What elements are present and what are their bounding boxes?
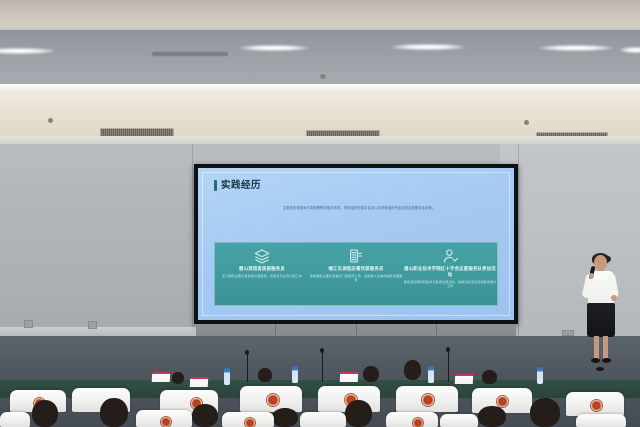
experience-heading: 眉山职业技术学院红十字会志愿服务队参加活动 — [403, 266, 497, 278]
audience-head — [530, 398, 560, 427]
presenter-left-hand — [589, 273, 594, 279]
microphone-head — [320, 348, 324, 353]
chair-emblem — [421, 393, 435, 407]
title-accent-bar — [214, 180, 217, 191]
microphone-stand — [247, 352, 248, 382]
presenter-shoe-shadow — [596, 367, 604, 371]
ceiling-speaker-dome — [320, 74, 326, 79]
experience-item-2: 岷江东湖饭店餐饮部服务员 寒假兼职主要负责餐饮门迎接待工作，完成客人点单并提供合… — [309, 243, 403, 283]
experience-body: 服务活动期间积极参与各项志愿活动，协助完成活动现场秩序维护工作 — [403, 280, 497, 289]
water-bottle — [224, 368, 230, 385]
chair-emblem — [266, 393, 280, 407]
name-card — [190, 377, 209, 387]
chair-emblem — [590, 399, 603, 412]
water-bottle — [292, 366, 298, 383]
presenter-right-leg — [603, 336, 608, 360]
microphone-stand — [322, 350, 323, 382]
wall-seam-right — [518, 144, 519, 344]
audience-head — [404, 360, 421, 380]
presentation-slide: 实践经历 主要是在校期间与寒假兼职的相关事项，学校组织的集中实训以及学校组织所参… — [198, 168, 514, 320]
experience-heading: 眉山宾馆客房部服务员 — [239, 266, 285, 272]
experience-heading: 岷江东湖饭店餐饮部服务员 — [328, 266, 383, 272]
presenter — [580, 255, 622, 367]
water-bottle — [537, 367, 543, 384]
layers-icon — [254, 248, 270, 264]
experience-body: 实习期间主要负责客房对客服务，完成当日主管分配工作 — [222, 274, 302, 278]
chair-emblem — [244, 417, 256, 427]
name-card — [152, 372, 171, 382]
presenter-left-leg — [594, 336, 599, 360]
audience-head — [478, 406, 506, 427]
presenter-right-shoe — [602, 358, 611, 363]
audience-chair — [300, 412, 346, 427]
presenter-left-shoe — [591, 358, 600, 363]
experience-columns: 眉山宾馆客房部服务员 实习期间主要负责客房对客服务，完成当日主管分配工作 — [215, 243, 497, 305]
audience-head — [363, 366, 379, 382]
ceiling-light-4 — [540, 45, 612, 51]
chair-emblem — [412, 417, 424, 427]
experience-item-3: 眉山职业技术学院红十字会志愿服务队参加活动 服务活动期间积极参与各项志愿活动，协… — [403, 243, 497, 289]
ceiling-sensor-1 — [48, 118, 53, 123]
wall-outlet-2 — [88, 321, 97, 329]
audience-head — [32, 400, 58, 427]
microphone-head — [245, 350, 249, 355]
experience-body: 寒假兼职主要负责餐饮门迎接待工作，完成客人点单并提供合理服务 — [309, 274, 403, 283]
page-title: 实践经历 — [221, 180, 261, 191]
ceiling-light-3 — [392, 44, 464, 50]
audience-chair — [440, 414, 478, 427]
slide-subtitle: 主要是在校期间与寒假兼职的相关事项，学校组织的集中实训以及学校组织所参加的志愿服… — [228, 206, 490, 211]
audience-head — [272, 408, 298, 427]
audience-chair — [576, 414, 626, 427]
audience-chair — [0, 412, 30, 427]
screen-display-area: 实践经历 主要是在校期间与寒假兼职的相关事项，学校组织的集中实训以及学校组织所参… — [198, 168, 514, 320]
experience-item-1: 眉山宾馆客房部服务员 实习期间主要负责客房对客服务，完成当日主管分配工作 — [215, 243, 309, 278]
ceiling-vent-strip — [152, 52, 228, 56]
audience-head — [345, 400, 372, 427]
projection-screen: 实践经历 主要是在校期间与寒假兼职的相关事项，学校组织的集中实训以及学校组织所参… — [194, 164, 518, 324]
audience-head — [100, 398, 128, 427]
water-bottle — [428, 366, 434, 383]
experience-card-panel: 眉山宾馆客房部服务员 实习期间主要负责客房对客服务，完成当日主管分配工作 — [214, 242, 498, 306]
soffit-edge-highlight — [0, 28, 640, 30]
name-card — [455, 374, 474, 384]
audience-head — [192, 404, 218, 427]
document-list-icon — [348, 248, 364, 264]
chair-emblem — [160, 416, 172, 427]
ceiling-sensor-2 — [524, 120, 529, 125]
presenter-skirt — [587, 303, 615, 337]
user-volunteer-icon — [442, 248, 458, 264]
wall-outlet-1 — [24, 320, 33, 328]
audience-head — [482, 370, 497, 384]
audience-head — [172, 372, 184, 384]
slide-title-row: 实践经历 — [214, 180, 261, 191]
audience-head — [258, 368, 272, 382]
wall-baseboard — [0, 327, 200, 336]
name-card — [340, 372, 359, 382]
wall-seam-left — [192, 144, 193, 344]
microphone-stand — [448, 349, 449, 382]
ceiling-light-2 — [240, 45, 308, 51]
microphone-head — [446, 347, 450, 352]
conference-hall-photo: 实践经历 主要是在校期间与寒假兼职的相关事项，学校组织的集中实训以及学校组织所参… — [0, 0, 640, 427]
presenter-right-hand — [611, 295, 617, 301]
ceiling-upper-slab — [0, 0, 640, 30]
